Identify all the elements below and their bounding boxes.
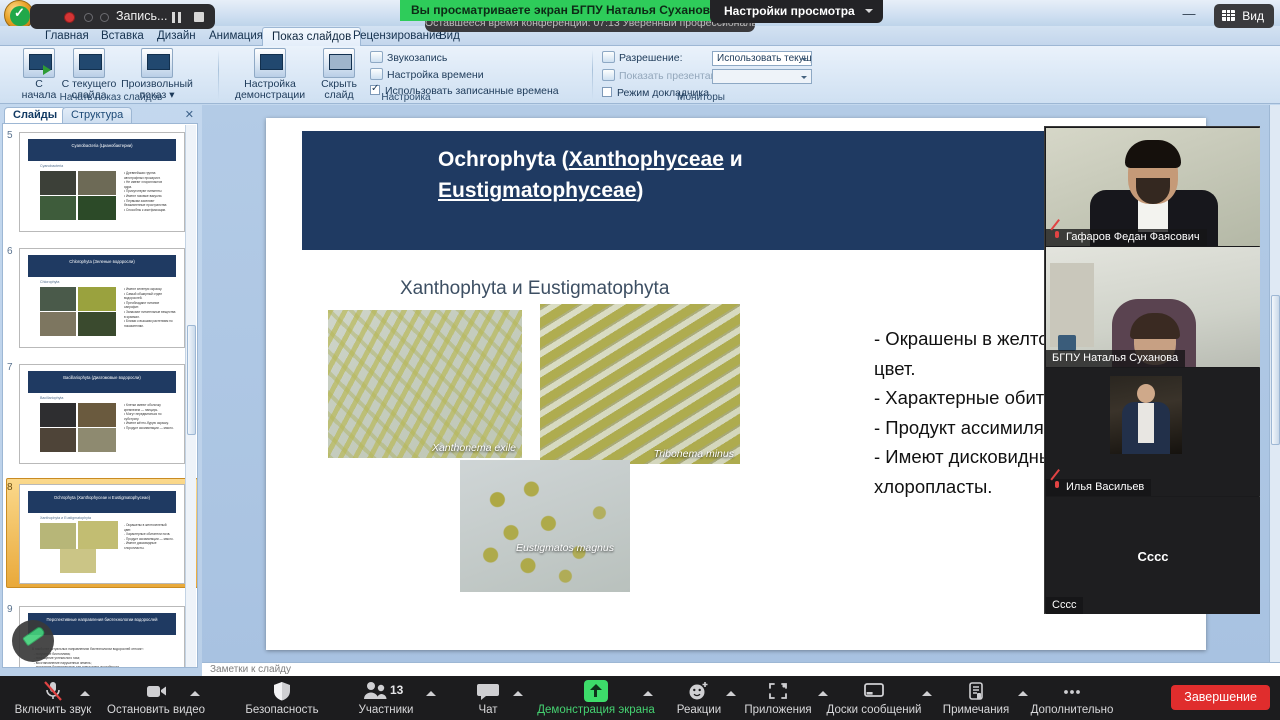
thumb-image <box>78 196 116 220</box>
resolution-combo[interactable]: Использовать текуще... <box>712 51 812 66</box>
ribbon-group-label: Начать показ слайдов <box>6 92 216 103</box>
thumb-bullets: • Древнейшая группаавтотрофных прокариот… <box>124 171 180 212</box>
thumb-image <box>40 523 76 549</box>
thumb-number: 8 <box>7 482 13 493</box>
slide-thumbnail-7[interactable]: Bacillariophyta (Диатомовые водоросли) B… <box>19 364 185 464</box>
hide-slide-icon <box>323 48 355 78</box>
thumb-image <box>78 171 116 195</box>
mic-options-caret-icon[interactable] <box>80 688 90 698</box>
video-participant-strip[interactable]: Гафаров Федан Фаясович БГПУ Наталья Суха… <box>1044 126 1260 614</box>
view-options-button[interactable]: Настройки просмотра <box>710 0 883 23</box>
slide-thumbnail-8[interactable]: Ochrophyta (Xanthophyceae и Eustigmatoph… <box>19 484 185 584</box>
start-from-beginning-icon <box>23 48 55 78</box>
list-item[interactable]: 7 Bacillariophyta (Диатомовые водоросли)… <box>3 360 198 474</box>
thumb-bullets: • Клетки имеют оболочкукремнезем — панци… <box>124 403 180 431</box>
ribbon-group-monitors: Разрешение: Использовать текуще... Показ… <box>596 46 806 104</box>
thumb-number: 6 <box>7 246 13 257</box>
thumb-title: Chlorophyta (Зеленые водоросли) <box>28 255 176 277</box>
ribbon-tab-insert[interactable]: Вставка <box>92 27 153 46</box>
show-on-combo-wrap <box>712 68 812 86</box>
avatar <box>1110 376 1182 454</box>
toolbar-label: Безопасность <box>245 704 318 716</box>
toolbar-label: Участники <box>359 704 414 716</box>
thumb-title: Cyanobacteria (Цианобактерии) <box>28 139 176 161</box>
participant-initials: Cccc <box>1046 549 1260 564</box>
ribbon-group-label: Мониторы <box>596 92 806 103</box>
toolbar-label: Доски сообщений <box>827 704 922 716</box>
slide-title-taxon1: Xanthophyceae <box>569 148 724 171</box>
screen-share-notice: Вы просматриваете экран БГПУ Наталья Сух… <box>400 0 728 21</box>
thumb-title: Bacillariophyta (Диатомовые водоросли) <box>28 371 176 393</box>
view-options-label: Настройки просмотра <box>724 4 855 18</box>
thumb-image <box>78 521 118 549</box>
micrograph-texture <box>460 460 630 592</box>
participant-name: Гафаров Федан Фаясович <box>1066 231 1200 243</box>
toolbar-label: Демонстрация экрана <box>537 704 655 716</box>
micrograph-2: Tribonema minus <box>540 304 740 464</box>
micrograph-caption: Xanthonema exile <box>432 442 516 454</box>
apps-caret-icon[interactable] <box>818 688 828 698</box>
thumb-image <box>78 428 116 452</box>
green-check-shield-icon[interactable] <box>10 6 30 26</box>
pause-icon[interactable] <box>172 12 181 23</box>
avatar-face <box>1137 384 1155 403</box>
ribbon-body: Сначала С текущегослайда Произвольныйпок… <box>0 46 1280 104</box>
zoom-toolbar: Включить звук Остановить видео Безопас <box>0 676 1280 720</box>
monitor-icon <box>602 69 615 81</box>
video-camera-icon <box>143 681 169 701</box>
recording-label: Запись... <box>116 8 167 25</box>
scrollbar-thumb[interactable] <box>1271 295 1280 445</box>
micrograph-caption: Tribonema minus <box>654 448 734 460</box>
ribbon-group-label: Настройка <box>222 92 590 103</box>
toolbar-label: Дополнительно <box>1031 704 1114 716</box>
thumb-subtitle: Bacillariophyta <box>40 396 63 400</box>
setup-show-icon <box>254 48 286 78</box>
thumb-subtitle: Xanthophyta и Eustigmatophyta <box>40 516 91 520</box>
stop-icon[interactable] <box>194 12 204 22</box>
rehearse-timings-label: Настройка времени <box>387 69 484 81</box>
ribbon-group-setup: Настройкадемонстрации Скрытьслайд Звукоз… <box>222 46 590 104</box>
participant-name-label: Сссс <box>1046 597 1083 614</box>
micrograph-3: Eustigmatos magnus <box>460 460 630 592</box>
reactions-icon <box>686 681 712 701</box>
avatar-hair <box>1125 140 1181 168</box>
participants-caret-icon[interactable] <box>426 688 436 698</box>
toolbar-label: Остановить видео <box>107 704 205 716</box>
grid-view-icon <box>1222 10 1235 21</box>
thumb-number: 7 <box>7 362 13 373</box>
slide-panel-tabs: Слайды Структура ✕ <box>0 105 200 123</box>
video-tile-3[interactable]: Илья Васильев <box>1046 368 1260 496</box>
participant-name: Илья Васильев <box>1066 481 1144 493</box>
thumb-image <box>60 549 96 573</box>
whiteboard-icon <box>861 681 887 701</box>
share-caret-icon[interactable] <box>643 688 653 698</box>
notes-icon <box>963 681 989 701</box>
show-on-combo <box>712 69 812 84</box>
thumb-bullets: • Имеют зеленую окраску. • Самый обширны… <box>124 287 180 328</box>
slide-title-taxon2: Eustigmatophyceae <box>438 179 636 202</box>
resolution-label: Разрешение: <box>619 52 683 64</box>
shield-icon <box>269 681 295 701</box>
scrollbar-thumb[interactable] <box>187 325 196 435</box>
micrograph-caption: Eustigmatos magnus <box>516 542 614 554</box>
toolbar-label: Приложения <box>744 704 811 716</box>
video-options-caret-icon[interactable] <box>190 688 200 698</box>
chat-caret-icon[interactable] <box>513 688 523 698</box>
slide-title-pre: Ochrophyta ( <box>438 148 569 171</box>
resolution-icon <box>602 51 615 63</box>
record-dot-icon[interactable] <box>64 12 75 23</box>
slide-subtitle: Xanthophyta и Eustigmatophyta <box>400 278 669 300</box>
thumb-number: 5 <box>7 130 13 141</box>
avatar-shirt <box>1138 403 1154 443</box>
power-icon-secondary[interactable] <box>100 13 109 22</box>
list-item[interactable]: 5 Cyanobacteria (Цианобактерии) Cyanobac… <box>3 128 198 242</box>
ribbon-separator <box>218 50 219 100</box>
resolution-row: Разрешение: <box>602 51 683 64</box>
stage-scrollbar[interactable] <box>1269 105 1280 676</box>
reactions-caret-icon[interactable] <box>726 688 736 698</box>
more-dots-icon <box>1059 681 1085 701</box>
minimize-icon[interactable]: — <box>1176 9 1202 23</box>
background-mug <box>1058 335 1076 351</box>
thumb-image <box>40 403 76 427</box>
custom-show-icon <box>141 48 173 78</box>
slide-title: Ochrophyta (Xanthophyceae и Eustigmatoph… <box>438 144 1078 206</box>
close-icon[interactable]: ✕ <box>185 108 194 121</box>
thumb-image <box>40 171 76 195</box>
record-narration-icon <box>370 51 383 63</box>
recording-control-bar[interactable]: Запись... <box>30 4 215 29</box>
chevron-down-icon[interactable] <box>865 9 873 13</box>
share-screen-icon <box>584 680 608 702</box>
power-icon[interactable] <box>84 13 93 22</box>
record-narration-row[interactable]: Звукозапись <box>370 51 447 64</box>
thumb-bullets: - Окрашены в желтозеленыйцвет. - Характе… <box>124 523 182 551</box>
participant-count: 13 <box>390 683 403 697</box>
micrograph-texture <box>328 310 522 458</box>
thumb-subtitle: Chlorophyta <box>40 280 59 284</box>
thumbnail-scrollbar[interactable] <box>185 125 196 668</box>
thumb-image <box>40 287 76 311</box>
micrograph-1: Xanthonema exile <box>328 310 522 458</box>
video-tile-2[interactable]: БГПУ Наталья Суханова <box>1046 247 1260 367</box>
thumb-image <box>78 403 116 427</box>
ribbon-tab-home[interactable]: Главная <box>36 27 98 46</box>
thumb-title: Ochrophyta (Xanthophyceae и Eustigmatoph… <box>28 491 176 513</box>
toolbar-label: Реакции <box>677 704 721 716</box>
mic-muted-icon <box>1052 230 1062 242</box>
ribbon-group-start-show: Сначала С текущегослайда Произвольныйпок… <box>6 46 216 104</box>
micrograph-texture <box>540 304 740 464</box>
thumb-bullets: В наиболее актуальных направлениях биоте… <box>32 647 178 668</box>
toolbar-label: Включить звук <box>15 704 92 716</box>
start-from-current-icon <box>73 48 105 78</box>
mic-muted-icon <box>40 681 66 701</box>
slide-thumbnail-6[interactable]: Chlorophyta (Зеленые водоросли) Chloroph… <box>19 248 185 348</box>
slide-title-post: ) <box>636 179 643 202</box>
participant-name-label: Гафаров Федан Фаясович <box>1046 229 1207 246</box>
view-button-label: Вид <box>1242 9 1264 23</box>
notes-pane[interactable]: Заметки к слайду <box>202 662 1280 676</box>
thumb-image <box>40 428 76 452</box>
participant-name-label: БГПУ Наталья Суханова <box>1046 350 1185 367</box>
thumb-number: 9 <box>7 604 13 615</box>
thumb-image <box>40 196 76 220</box>
view-button[interactable]: Вид <box>1214 4 1274 28</box>
mic-muted-icon <box>1052 480 1062 492</box>
participants-icon <box>363 681 389 701</box>
toolbar-label: Примечания <box>943 704 1009 716</box>
chat-bubble-icon <box>475 681 501 701</box>
list-item[interactable]: 6 Chlorophyta (Зеленые водоросли) Chloro… <box>3 244 198 358</box>
ribbon-tab-design[interactable]: Дизайн <box>148 27 205 46</box>
end-meeting-button[interactable]: Завершение <box>1171 685 1270 710</box>
pen-annotation-icon[interactable] <box>12 620 54 662</box>
record-narration-label: Звукозапись <box>387 52 447 64</box>
apps-icon <box>765 681 791 701</box>
list-item-selected[interactable]: 8 Ochrophyta (Xanthophyceae и Eustigmato… <box>3 476 198 598</box>
rehearse-timings-icon <box>370 68 383 80</box>
thumb-image <box>78 312 116 336</box>
whiteboard-caret-icon[interactable] <box>922 688 932 698</box>
notes-caret-icon[interactable] <box>1018 688 1028 698</box>
thumb-image <box>78 287 116 311</box>
toolbar-label: Чат <box>478 704 497 716</box>
video-tile-4[interactable]: Cccc Сссс <box>1046 497 1260 614</box>
participant-name-label: Илья Васильев <box>1046 479 1151 496</box>
slide-thumbnail-list[interactable]: 5 Cyanobacteria (Цианобактерии) Cyanobac… <box>2 123 198 668</box>
rehearse-timings-row[interactable]: Настройка времени <box>370 68 484 81</box>
video-tile-1[interactable]: Гафаров Федан Фаясович <box>1046 128 1260 246</box>
tab-slides[interactable]: Слайды <box>4 107 66 123</box>
resolution-combo-wrap[interactable]: Использовать текуще... <box>712 50 812 68</box>
thumb-subtitle: Cyanobacteria <box>40 164 63 168</box>
slide-title-conj: и <box>724 148 743 171</box>
ribbon-separator <box>592 50 593 100</box>
slide-thumbnail-5[interactable]: Cyanobacteria (Цианобактерии) Cyanobacte… <box>19 132 185 232</box>
tab-outline[interactable]: Структура <box>62 107 132 123</box>
thumb-image <box>40 312 76 336</box>
